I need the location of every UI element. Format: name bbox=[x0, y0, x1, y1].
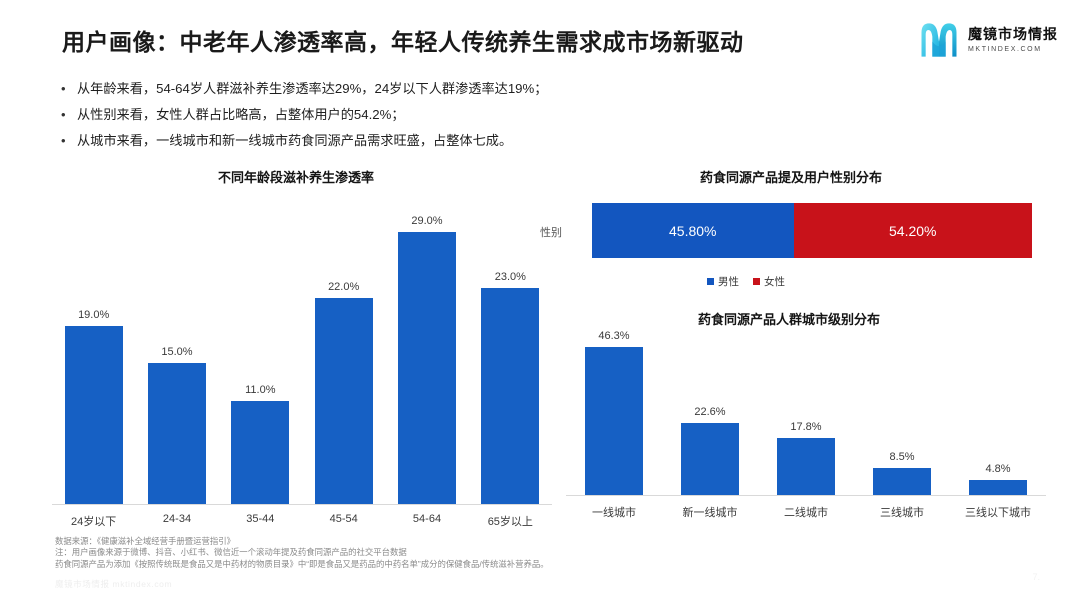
bar-value-label: 4.8% bbox=[950, 463, 1046, 475]
legend-swatch bbox=[707, 278, 714, 285]
bullet-marker: • bbox=[55, 106, 77, 123]
x-axis-line bbox=[566, 495, 1046, 496]
m-logo-icon bbox=[918, 20, 960, 60]
footnote-source: 数据来源：《健康滋补全域经营手册暨运营指引》 bbox=[55, 536, 775, 547]
x-axis-tick-label: 新一线城市 bbox=[662, 504, 758, 520]
brand-logo: 魔镜市场情报 MKTINDEX.COM bbox=[918, 20, 1058, 60]
stacked-segment-female[interactable]: 54.20% bbox=[794, 203, 1032, 258]
gender-legend: 男性女性 bbox=[707, 274, 785, 289]
page-title: 用户画像：中老年人渗透率高，年轻人传统养生需求成市场新驱动 bbox=[62, 23, 744, 57]
page-number: 7. bbox=[1032, 572, 1040, 582]
bar-value-label: 11.0% bbox=[219, 384, 302, 396]
x-axis-tick-label: 24-34 bbox=[135, 513, 218, 525]
x-axis-tick-label: 35-44 bbox=[219, 513, 302, 525]
bar-value-label: 46.3% bbox=[566, 330, 662, 342]
bar[interactable] bbox=[315, 298, 373, 504]
gender-chart-title: 药食同源产品提及用户性别分布 bbox=[700, 167, 882, 186]
bar-value-label: 15.0% bbox=[135, 346, 218, 358]
footnotes: 数据来源：《健康滋补全域经营手册暨运营指引》 注：用户画像来源于微博、抖音、小红… bbox=[55, 536, 775, 570]
bar-value-label: 29.0% bbox=[385, 215, 468, 227]
watermark: 魔镜市场情报 mktindex.com bbox=[55, 578, 172, 590]
bar[interactable] bbox=[65, 326, 123, 504]
x-axis-tick-label: 三线以下城市 bbox=[950, 504, 1046, 520]
city-chart-title: 药食同源产品人群城市级别分布 bbox=[698, 309, 880, 328]
legend-label: 男性 bbox=[718, 274, 739, 289]
logo-brand-name: 魔镜市场情报 bbox=[968, 27, 1058, 41]
stacked-bar: 45.80%54.20% bbox=[592, 203, 1032, 258]
x-axis-tick-label: 65岁以上 bbox=[469, 513, 552, 529]
legend-label: 女性 bbox=[764, 274, 785, 289]
x-axis-tick-label: 45-54 bbox=[302, 513, 385, 525]
bar[interactable] bbox=[481, 288, 539, 504]
slide-root: 用户画像：中老年人渗透率高，年轻人传统养生需求成市场新驱动 魔镜市场情报 MKT… bbox=[0, 0, 1080, 608]
logo-brand-url: MKTINDEX.COM bbox=[968, 46, 1058, 53]
bullet-marker: • bbox=[55, 80, 77, 97]
bar[interactable] bbox=[398, 232, 456, 504]
bar-value-label: 23.0% bbox=[469, 271, 552, 283]
x-axis-tick-label: 24岁以下 bbox=[52, 513, 135, 529]
age-chart-title: 不同年龄段滋补养生渗透率 bbox=[218, 167, 374, 186]
stacked-segment-male[interactable]: 45.80% bbox=[592, 203, 794, 258]
footnote-method: 注：用户画像来源于微博、抖音、小红书、微信近一个滚动年提及药食同源产品的社交平台… bbox=[55, 547, 775, 558]
bar[interactable] bbox=[231, 401, 289, 504]
bar-value-label: 22.0% bbox=[302, 281, 385, 293]
x-axis-line bbox=[52, 504, 552, 505]
bar-value-label: 19.0% bbox=[52, 309, 135, 321]
bullet-text: 从城市来看，一线城市和新一线城市药食同源产品需求旺盛，占整体七成。 bbox=[77, 132, 512, 149]
bar[interactable] bbox=[873, 468, 931, 495]
bar-value-label: 8.5% bbox=[854, 451, 950, 463]
footnote-definition: 药食同源产品为添加《按照传统既是食品又是中药材的物质目录》中“即是食品又是药品的… bbox=[55, 559, 775, 570]
bullet-text: 从性别来看，女性人群占比略高，占整体用户的54.2%； bbox=[77, 106, 405, 123]
x-axis-tick-label: 54-64 bbox=[385, 513, 468, 525]
x-axis-tick-label: 一线城市 bbox=[566, 504, 662, 520]
bar[interactable] bbox=[148, 363, 206, 504]
legend-item[interactable]: 男性 bbox=[707, 274, 739, 289]
bullet-text: 从年龄来看，54-64岁人群滋补养生渗透率达29%，24岁以下人群渗透率达19%… bbox=[77, 80, 547, 97]
bullet-marker: • bbox=[55, 132, 77, 149]
x-axis-tick-label: 三线城市 bbox=[854, 504, 950, 520]
legend-item[interactable]: 女性 bbox=[753, 274, 785, 289]
bar[interactable] bbox=[969, 480, 1027, 495]
list-item: • 从年龄来看，54-64岁人群滋补养生渗透率达29%，24岁以下人群渗透率达1… bbox=[55, 80, 755, 97]
bar[interactable] bbox=[777, 438, 835, 495]
x-axis-tick-label: 二线城市 bbox=[758, 504, 854, 520]
bar[interactable] bbox=[585, 347, 643, 495]
bullet-list: • 从年龄来看，54-64岁人群滋补养生渗透率达29%，24岁以下人群渗透率达1… bbox=[55, 80, 755, 158]
y-axis-tick-label: 性别 bbox=[540, 224, 562, 240]
bar-value-label: 17.8% bbox=[758, 421, 854, 433]
legend-swatch bbox=[753, 278, 760, 285]
list-item: • 从城市来看，一线城市和新一线城市药食同源产品需求旺盛，占整体七成。 bbox=[55, 132, 755, 149]
list-item: • 从性别来看，女性人群占比略高，占整体用户的54.2%； bbox=[55, 106, 755, 123]
bar[interactable] bbox=[681, 423, 739, 495]
bar-value-label: 22.6% bbox=[662, 406, 758, 418]
